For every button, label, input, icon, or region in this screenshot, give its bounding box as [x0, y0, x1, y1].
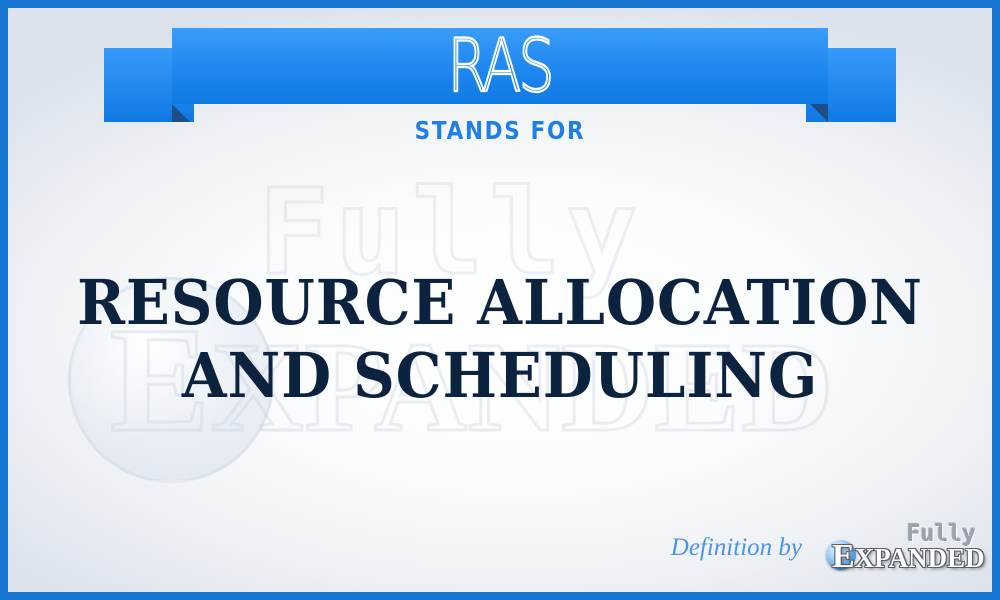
fully-expanded-logo[interactable]: Fully EXPANDED: [826, 524, 978, 574]
stands-for-label: STANDS FOR: [77, 116, 923, 145]
logo-expanded-rest: XPANDED: [855, 543, 985, 573]
definition-text-block: RESOURCE ALLOCATION AND SCHEDULING: [8, 266, 992, 412]
definition-line-1: RESOURCE ALLOCATION: [42, 266, 957, 339]
definition-line-2: AND SCHEDULING: [42, 339, 957, 412]
definition-card: Fully EXPANDED RAS STANDS FOR RESOURCE A…: [0, 0, 1000, 600]
logo-expanded-text: EXPANDED: [832, 540, 985, 574]
header-ribbon: RAS STANDS FOR: [8, 8, 992, 148]
definition-by-label: Definition by: [671, 534, 802, 562]
ribbon-banner-body: RAS: [172, 28, 828, 104]
acronym-title: RAS: [448, 29, 552, 102]
logo-expanded-initial: E: [832, 538, 855, 575]
footer-credit-bar: Definition by Fully EXPANDED: [8, 514, 992, 586]
